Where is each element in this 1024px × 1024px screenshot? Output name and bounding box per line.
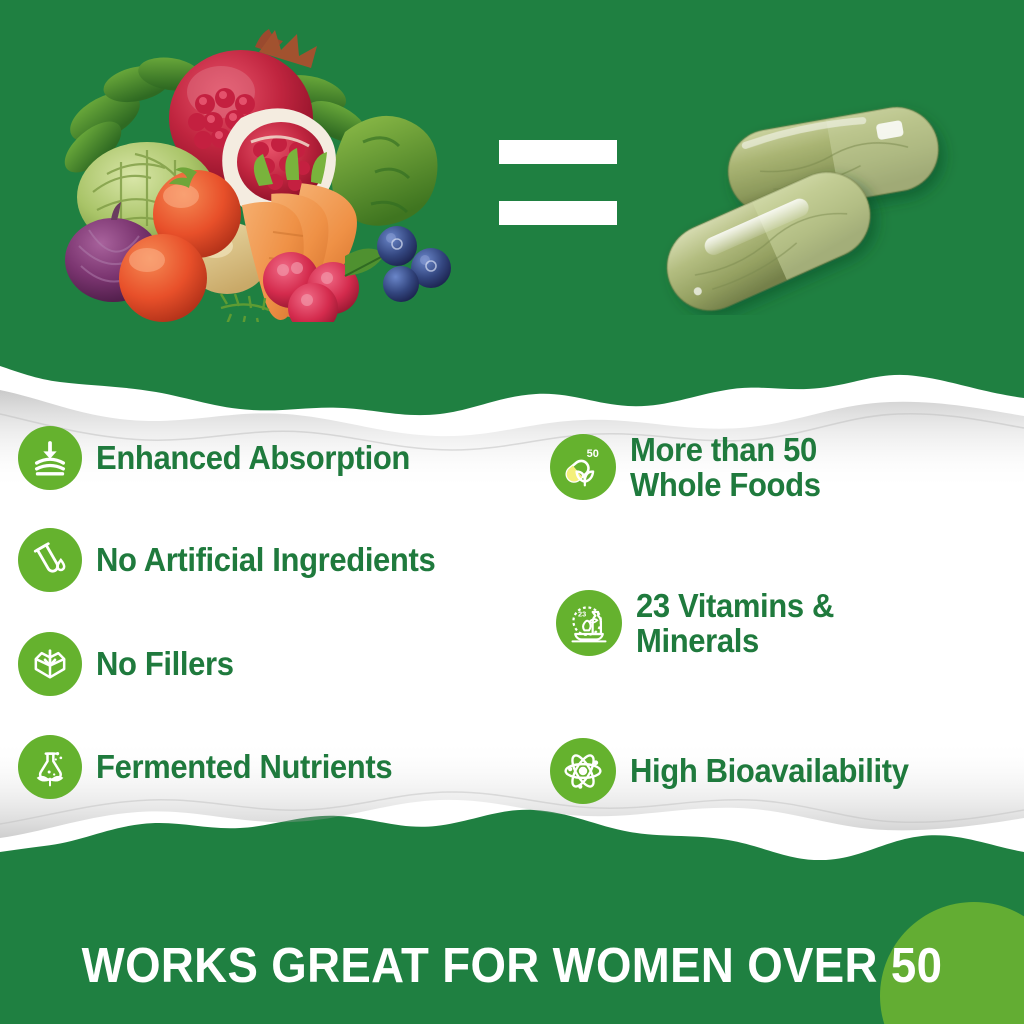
banner-headline: WORKS GREAT FOR WOMEN OVER 50 <box>36 938 988 994</box>
feature-label: More than 50 Whole Foods <box>630 432 821 503</box>
bottom-banner: WORKS GREAT FOR WOMEN OVER 50 <box>0 860 1024 1024</box>
atom-icon <box>550 738 616 804</box>
feature-label: No Fillers <box>96 646 234 681</box>
feature-enhanced-absorption[interactable]: Enhanced Absorption <box>18 426 430 490</box>
badge-50: 50 <box>587 448 599 460</box>
feature-label: High Bioavailability <box>630 753 909 788</box>
feature-label: Fermented Nutrients <box>96 749 392 784</box>
feature-more-than-50-whole-foods[interactable]: 50 More than 50 Whole Foods <box>550 432 833 503</box>
open-box-icon <box>18 632 82 696</box>
produce-image <box>45 22 465 322</box>
food-plate-23-icon: 23 <box>556 590 622 656</box>
feature-high-bioavailability[interactable]: High Bioavailability <box>550 738 926 804</box>
download-absorption-icon <box>18 426 82 490</box>
feature-label: No Artificial Ingredients <box>96 542 435 577</box>
feature-no-fillers[interactable]: No Fillers <box>18 632 242 696</box>
feature-label: 23 Vitamins & Minerals <box>636 588 834 659</box>
capsule-leaf-50-icon: 50 <box>550 434 616 500</box>
features-grid: Enhanced Absorption No Artificial Ingred… <box>0 420 1024 820</box>
flask-leaves-icon <box>18 735 82 799</box>
badge-23: 23 <box>578 610 586 619</box>
equals-sign <box>499 140 617 225</box>
infographic-canvas: Enhanced Absorption No Artificial Ingred… <box>0 0 1024 1024</box>
equals-bar-bottom <box>499 201 617 225</box>
feature-label: Enhanced Absorption <box>96 440 410 475</box>
feature-no-artificial-ingredients[interactable]: No Artificial Ingredients <box>18 528 457 592</box>
feature-fermented-nutrients[interactable]: Fermented Nutrients <box>18 735 411 799</box>
test-tube-icon <box>18 528 82 592</box>
capsules-image <box>620 85 1000 315</box>
equals-bar-top <box>499 140 617 164</box>
feature-23-vitamins-minerals[interactable]: 23 23 Vitamins & Minerals <box>556 588 847 659</box>
